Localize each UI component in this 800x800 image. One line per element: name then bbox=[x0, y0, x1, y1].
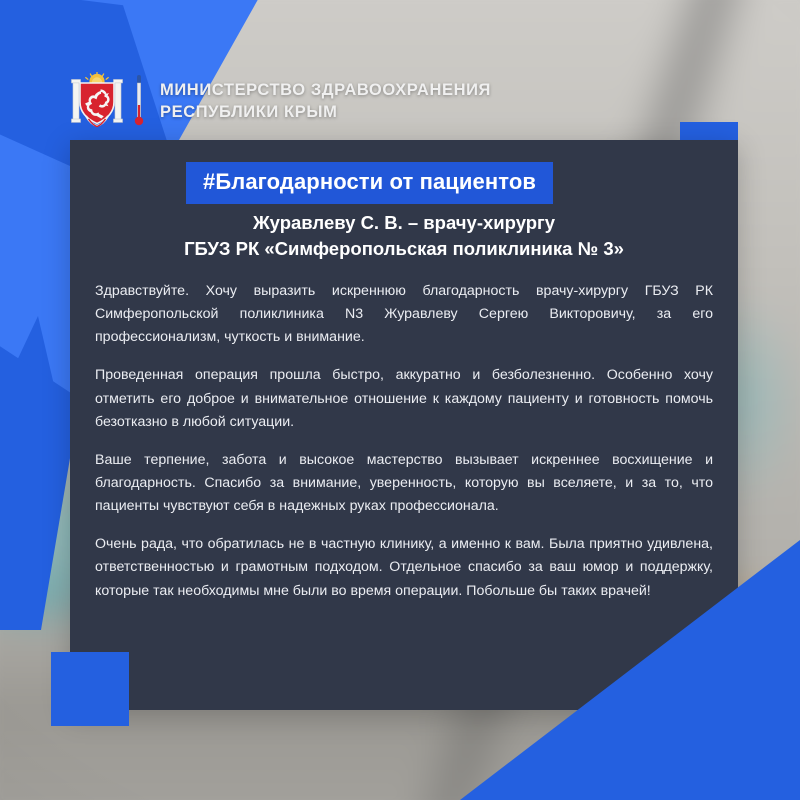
letter-paragraph: Очень рада, что обратилась не в частную … bbox=[95, 533, 713, 602]
letter-paragraph: Проведенная операция прошла быстро, акку… bbox=[95, 364, 713, 433]
letter-paragraph: Здравствуйте. Хочу выразить искреннюю бл… bbox=[95, 280, 713, 349]
thermometer-icon bbox=[134, 75, 144, 127]
ministry-name: МИНИСТЕРСТВО ЗДРАВООХРАНЕНИЯ РЕСПУБЛИКИ … bbox=[160, 81, 491, 121]
crimea-coat-of-arms-icon bbox=[70, 72, 124, 130]
blue-square-bottom-left bbox=[51, 652, 129, 726]
subject-heading-line-2: ГБУЗ РК «Симферопольская поликлиника № 3… bbox=[84, 236, 724, 262]
testimonial-card: #Благодарности от пациентов Журавлеву С.… bbox=[70, 140, 738, 710]
ministry-name-line-2: РЕСПУБЛИКИ КРЫМ bbox=[160, 103, 491, 121]
poster-canvas: МИНИСТЕРСТВО ЗДРАВООХРАНЕНИЯ РЕСПУБЛИКИ … bbox=[0, 0, 800, 800]
subject-heading: Журавлеву С. В. – врачу-хирургу ГБУЗ РК … bbox=[70, 210, 738, 263]
letter-body: Здравствуйте. Хочу выразить искреннюю бл… bbox=[95, 280, 713, 603]
ministry-masthead: МИНИСТЕРСТВО ЗДРАВООХРАНЕНИЯ РЕСПУБЛИКИ … bbox=[70, 72, 491, 130]
ministry-name-line-1: МИНИСТЕРСТВО ЗДРАВООХРАНЕНИЯ bbox=[160, 81, 491, 99]
subject-heading-line-1: Журавлеву С. В. – врачу-хирургу bbox=[84, 210, 724, 236]
letter-paragraph: Ваше терпение, забота и высокое мастерст… bbox=[95, 449, 713, 518]
hashtag-badge: #Благодарности от пациентов bbox=[186, 162, 553, 204]
